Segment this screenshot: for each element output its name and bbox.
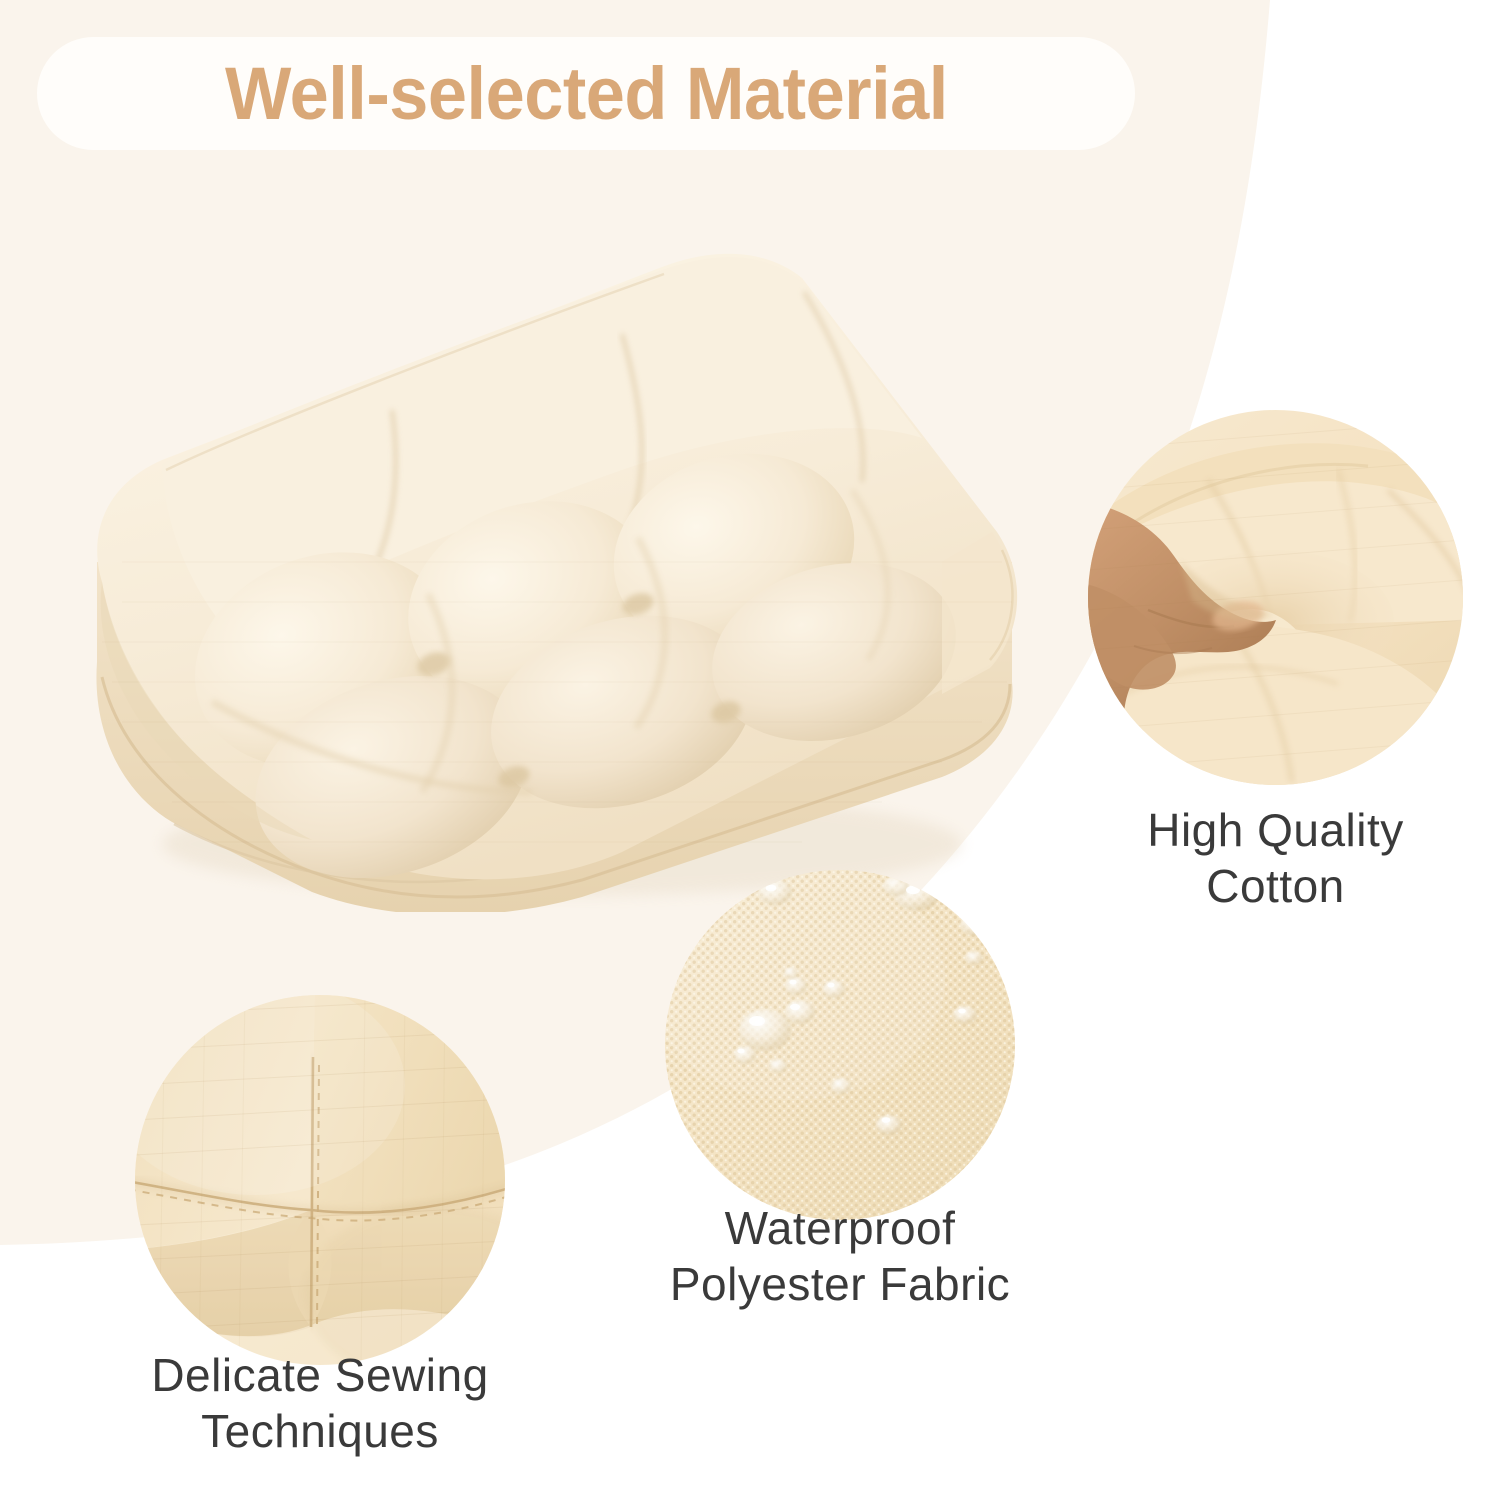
waterproof-caption-line2: Polyester Fabric — [625, 1256, 1055, 1312]
feature-sewing: Delicate Sewing Techniques — [135, 995, 505, 1365]
waterproof-caption-line1: Waterproof — [725, 1202, 956, 1254]
cotton-caption-line2: Cotton — [1066, 858, 1486, 914]
page-title-pill: Well-selected Material — [37, 37, 1135, 150]
sewing-detail-circle — [135, 995, 505, 1365]
feature-sewing-caption: Delicate Sewing Techniques — [105, 1347, 535, 1459]
product-feature-graphic: Well-selected Material — [0, 0, 1500, 1500]
feature-waterproof: Waterproof Polyester Fabric — [665, 870, 1015, 1220]
feature-waterproof-caption: Waterproof Polyester Fabric — [625, 1200, 1055, 1312]
sewing-caption-line2: Techniques — [105, 1403, 535, 1459]
waterproof-detail-circle — [665, 870, 1015, 1220]
cotton-caption-line1: High Quality — [1147, 804, 1404, 856]
page-title: Well-selected Material — [225, 57, 948, 131]
feature-cotton-caption: High Quality Cotton — [1066, 802, 1486, 914]
cotton-detail-circle — [1088, 410, 1463, 785]
feature-cotton: High Quality Cotton — [1088, 410, 1463, 785]
product-image-cushion — [62, 232, 1052, 912]
sewing-caption-line1: Delicate Sewing — [151, 1349, 488, 1401]
